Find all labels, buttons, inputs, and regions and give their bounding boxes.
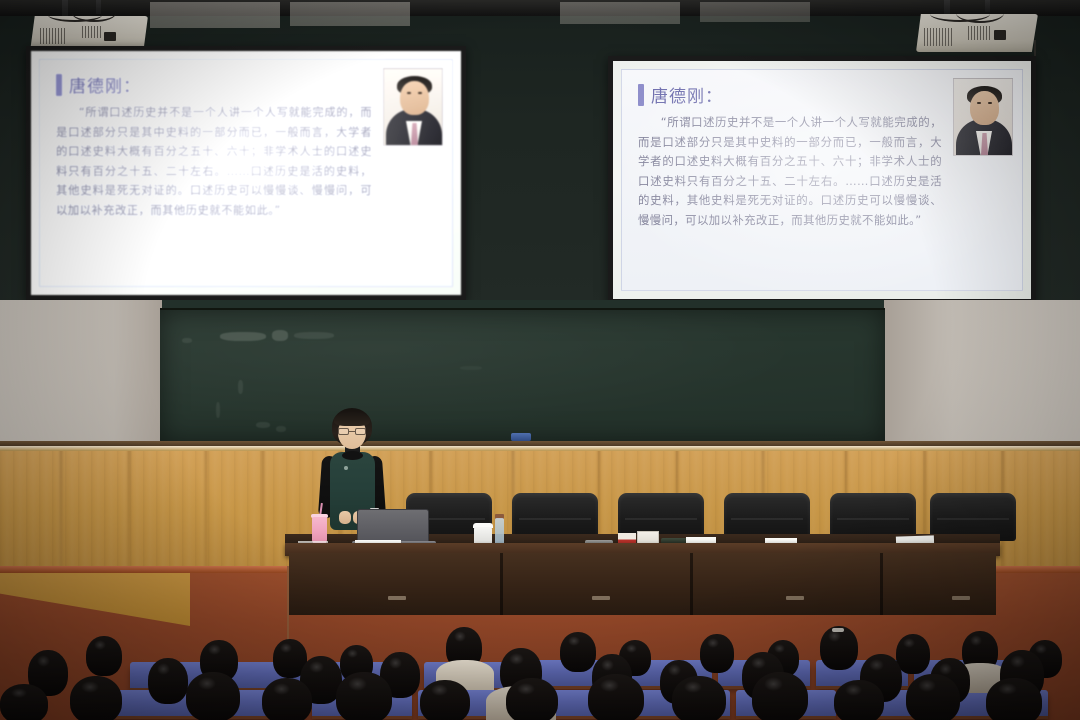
projector-lens xyxy=(104,32,116,41)
projector-vent xyxy=(924,28,954,46)
audience-head xyxy=(672,676,726,720)
slide-accent-bar xyxy=(638,84,644,106)
ceiling-panel xyxy=(560,2,680,24)
lecturer-button xyxy=(344,466,348,470)
audience-head xyxy=(262,678,312,720)
desk-drawer-handle[interactable] xyxy=(388,596,406,600)
left-slide-title-row: 唐德刚： xyxy=(56,72,438,97)
slide-accent-bar xyxy=(56,74,62,96)
wainscot-cap-rail xyxy=(0,446,1080,451)
ceiling-panel xyxy=(700,2,810,22)
water-bottle[interactable] xyxy=(495,518,504,546)
audience-head xyxy=(560,632,596,672)
audience-head xyxy=(148,658,188,704)
left-slide-title: 唐德刚： xyxy=(69,72,141,97)
left-slide: 唐德刚： “所谓口述历史并不是一个人讲一个人写就能完成的，而是口述部分只是其中史… xyxy=(39,59,453,287)
projector-vent xyxy=(82,26,102,38)
audience-head xyxy=(186,672,240,720)
projector-cable xyxy=(956,3,1004,23)
right-side-wall xyxy=(884,300,1080,446)
audience-head xyxy=(820,626,858,670)
projector-vent xyxy=(968,26,990,40)
right-slide-title: 唐德刚： xyxy=(651,82,723,107)
projector-lens xyxy=(994,30,1006,40)
audience-head xyxy=(700,634,734,673)
desk-drawer-handle[interactable] xyxy=(592,596,610,600)
desk-drawer-handle[interactable] xyxy=(952,596,970,600)
right-slide: 唐德刚： “所谓口述历史并不是一个人讲一个人写就能完成的，而是口述部分只是其中史… xyxy=(621,69,1023,291)
laptop-screen[interactable] xyxy=(357,509,429,543)
lecturer-fringe xyxy=(334,412,370,426)
left-slide-portrait xyxy=(383,68,443,146)
desk-drawer-handle[interactable] xyxy=(786,596,804,600)
right-projection-screen: 唐德刚： “所谓口述历史并不是一个人讲一个人写就能完成的，而是口述部分只是其中史… xyxy=(608,56,1036,304)
blackboard-eraser[interactable] xyxy=(511,433,531,441)
desk-panel-seam xyxy=(500,553,503,615)
glasses-icon xyxy=(338,428,366,435)
audience-head xyxy=(86,636,122,676)
audience-head xyxy=(906,674,960,720)
right-slide-portrait xyxy=(953,78,1013,156)
left-slide-body: “所谓口述历史并不是一个人讲一个人写就能完成的，而是口述部分只是其中史料的一部分… xyxy=(56,103,438,221)
audience-head xyxy=(506,678,558,720)
ceiling-panel xyxy=(290,2,410,26)
pink-tumbler[interactable] xyxy=(312,517,327,544)
desk-panel-seam xyxy=(880,553,883,615)
audience-head xyxy=(420,680,470,720)
hair-clip xyxy=(832,628,844,632)
audience-head xyxy=(896,634,930,674)
projector-cable xyxy=(72,4,116,22)
audience-head xyxy=(336,672,392,720)
audience-head xyxy=(588,674,644,720)
desk-panel-seam xyxy=(690,553,693,615)
blackboard xyxy=(160,308,885,442)
lecture-hall-scene: 唐德刚： “所谓口述历史并不是一个人讲一个人写就能完成的，而是口述部分只是其中史… xyxy=(0,0,1080,720)
lecturer-collar xyxy=(342,451,363,460)
projector-vent xyxy=(40,28,66,44)
ceiling-panel xyxy=(150,2,280,28)
audience-head xyxy=(986,678,1042,720)
podium-desk-front xyxy=(289,553,996,615)
left-side-wall xyxy=(0,300,162,446)
lecturer-hand-left xyxy=(339,511,351,524)
audience-head xyxy=(752,672,808,720)
audience-head xyxy=(834,680,884,720)
left-projection-screen: 唐德刚： “所谓口述历史并不是一个人讲一个人写就能完成的，而是口述部分只是其中史… xyxy=(26,46,466,300)
audience-head xyxy=(0,684,48,720)
audience-head xyxy=(70,676,122,720)
